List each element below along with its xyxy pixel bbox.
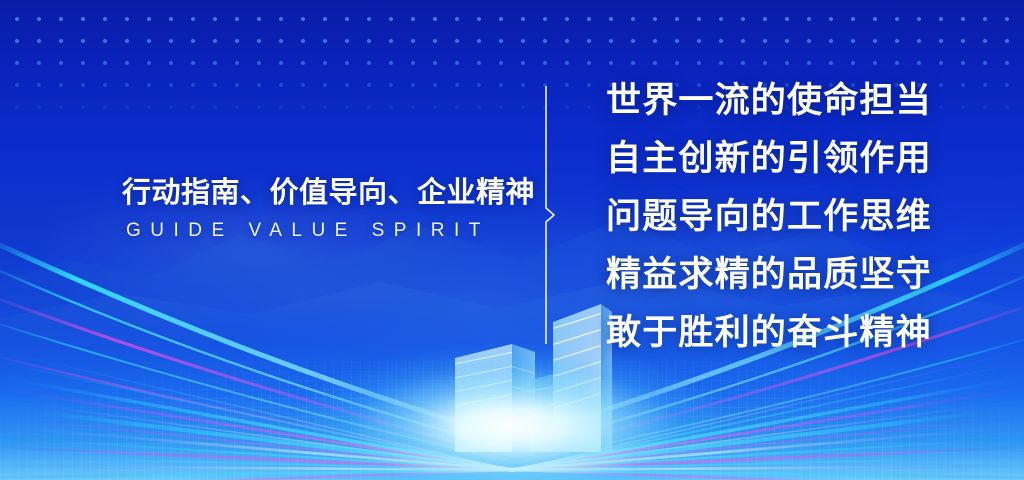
slogan-line-5: 敢于胜利的奋斗精神 <box>606 304 1006 362</box>
slogan-line-1: 世界一流的使命担当 <box>606 72 1006 130</box>
page-subtitle: GUIDE VALUE SPIRIT <box>126 220 522 242</box>
vertical-divider-with-chevron <box>543 86 557 344</box>
slogan-line-3: 问题导向的工作思维 <box>606 188 1006 246</box>
left-text-block: 行动指南、价值导向、企业精神 GUIDE VALUE SPIRIT <box>122 176 522 242</box>
page-title: 行动指南、价值导向、企业精神 <box>122 176 522 210</box>
slogan-line-4: 精益求精的品质坚守 <box>606 246 1006 304</box>
corporate-culture-banner: 行动指南、价值导向、企业精神 GUIDE VALUE SPIRIT 世界一流的使… <box>0 0 1024 480</box>
slogan-list: 世界一流的使命担当 自主创新的引领作用 问题导向的工作思维 精益求精的品质坚守 … <box>606 72 1006 362</box>
slogan-line-2: 自主创新的引领作用 <box>606 130 1006 188</box>
perspective-floor-grid <box>0 360 1024 480</box>
